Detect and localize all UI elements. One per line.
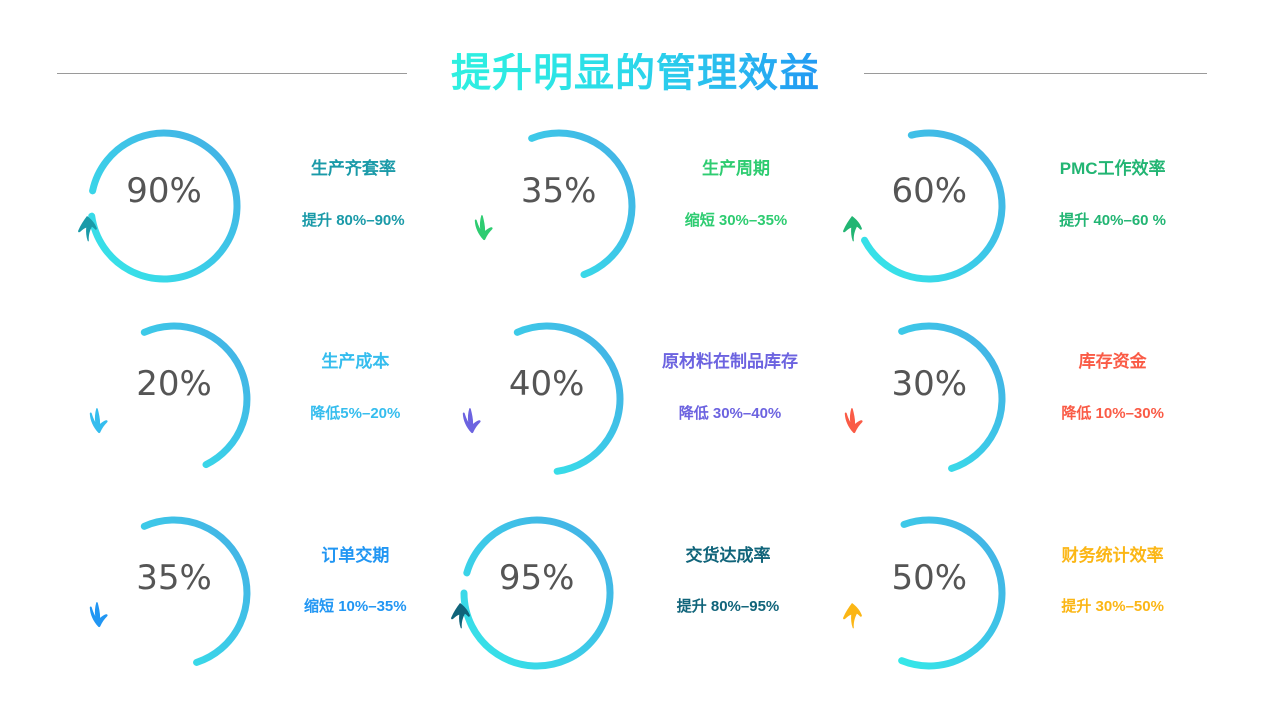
progress-dial: 30% xyxy=(841,311,1017,487)
progress-dial: 60% xyxy=(841,118,1017,294)
metric-text-block: 生产周期 缩短 30%–35% xyxy=(647,118,826,229)
metric-title: 订单交期 xyxy=(321,547,389,566)
dial-percent-value: 35% xyxy=(471,174,647,208)
metric-subtitle: 提升 30%–50% xyxy=(1061,599,1164,616)
arrow-down-curved-icon xyxy=(86,601,111,630)
arrow-down-curved-icon xyxy=(841,407,866,436)
metric-title: 库存资金 xyxy=(1079,353,1147,372)
metric-title: 生产成本 xyxy=(321,353,389,372)
metric-title: 交货达成率 xyxy=(685,547,770,566)
metric-card: 35% 订单交期 缩短 10%–35% xyxy=(72,505,449,698)
metric-text-block: 交货达成率 提升 80%–95% xyxy=(625,505,826,616)
arrow-down-curved-icon xyxy=(459,407,484,436)
dial-percent-value: 40% xyxy=(459,367,635,401)
dial-percent-value: 30% xyxy=(841,367,1017,401)
metric-card: 50% 财务统计效率 提升 30%–50% xyxy=(825,505,1202,698)
progress-dial: 90% xyxy=(76,118,252,294)
slide-root: 提升明显的管理效益 90% 生产 xyxy=(0,0,1264,710)
dial-percent-value: 90% xyxy=(76,174,252,208)
metric-card: 30% 库存资金 降低 10%–30% xyxy=(825,311,1202,504)
metric-subtitle: 提升 80%–95% xyxy=(677,599,780,616)
metric-text-block: 原材料在制品库存 降低 30%–40% xyxy=(635,311,826,422)
progress-dial: 95% xyxy=(449,505,625,681)
metric-card: 40% 原材料在制品库存 降低 30%–40% xyxy=(449,311,826,504)
metric-text-block: 订单交期 缩短 10%–35% xyxy=(262,505,449,616)
metric-title: 财务统计效率 xyxy=(1062,547,1164,566)
metric-subtitle: 提升 40%–60 % xyxy=(1059,213,1166,230)
slide-header: 提升明显的管理效益 xyxy=(0,44,1264,102)
metric-text-block: PMC工作效率 提升 40%–60 % xyxy=(1017,118,1202,229)
metric-title: 生产周期 xyxy=(702,160,770,179)
metric-card: 90% 生产齐套率 提升 80%–90% xyxy=(72,118,449,311)
progress-dial: 20% xyxy=(86,311,262,487)
progress-dial: 40% xyxy=(459,311,635,487)
arrow-up-curved-icon xyxy=(841,214,866,243)
metric-subtitle: 缩短 10%–35% xyxy=(304,599,407,616)
metric-card: 35% 生产周期 缩短 30%–35% xyxy=(449,118,826,311)
metric-text-block: 生产成本 降低5%–20% xyxy=(262,311,449,422)
page-title: 提升明显的管理效益 xyxy=(451,53,820,93)
header-rule-right xyxy=(864,73,1207,74)
progress-dial: 35% xyxy=(471,118,647,294)
metric-subtitle: 提升 80%–90% xyxy=(302,213,405,230)
metric-text-block: 生产齐套率 提升 80%–90% xyxy=(252,118,449,229)
metric-card: 95% 交货达成率 提升 80%–95% xyxy=(449,505,826,698)
metric-title: 原材料在制品库存 xyxy=(662,353,798,372)
dial-percent-value: 50% xyxy=(841,561,1017,595)
metric-subtitle: 降低5%–20% xyxy=(310,406,400,423)
dial-percent-value: 35% xyxy=(86,561,262,595)
arrow-down-curved-icon xyxy=(471,214,496,243)
arrow-down-curved-icon xyxy=(86,407,111,436)
metric-title: 生产齐套率 xyxy=(311,160,396,179)
progress-dial: 50% xyxy=(841,505,1017,681)
arrow-up-curved-icon xyxy=(449,601,474,630)
metric-card: 60% PMC工作效率 提升 40%–60 % xyxy=(825,118,1202,311)
dial-percent-value: 60% xyxy=(841,174,1017,208)
metric-text-block: 库存资金 降低 10%–30% xyxy=(1017,311,1202,422)
metric-card: 20% 生产成本 降低5%–20% xyxy=(72,311,449,504)
dial-percent-value: 20% xyxy=(86,367,262,401)
metric-subtitle: 降低 30%–40% xyxy=(679,406,782,423)
arrow-up-curved-icon xyxy=(841,601,866,630)
arrow-up-curved-icon xyxy=(76,214,101,243)
metric-text-block: 财务统计效率 提升 30%–50% xyxy=(1017,505,1202,616)
metric-title: PMC工作效率 xyxy=(1060,160,1166,179)
progress-dial: 35% xyxy=(86,505,262,681)
metric-subtitle: 缩短 30%–35% xyxy=(685,213,788,230)
dial-percent-value: 95% xyxy=(449,561,625,595)
header-rule-left xyxy=(57,73,407,74)
metric-subtitle: 降低 10%–30% xyxy=(1061,406,1164,423)
metrics-grid: 90% 生产齐套率 提升 80%–90% xyxy=(72,118,1202,698)
